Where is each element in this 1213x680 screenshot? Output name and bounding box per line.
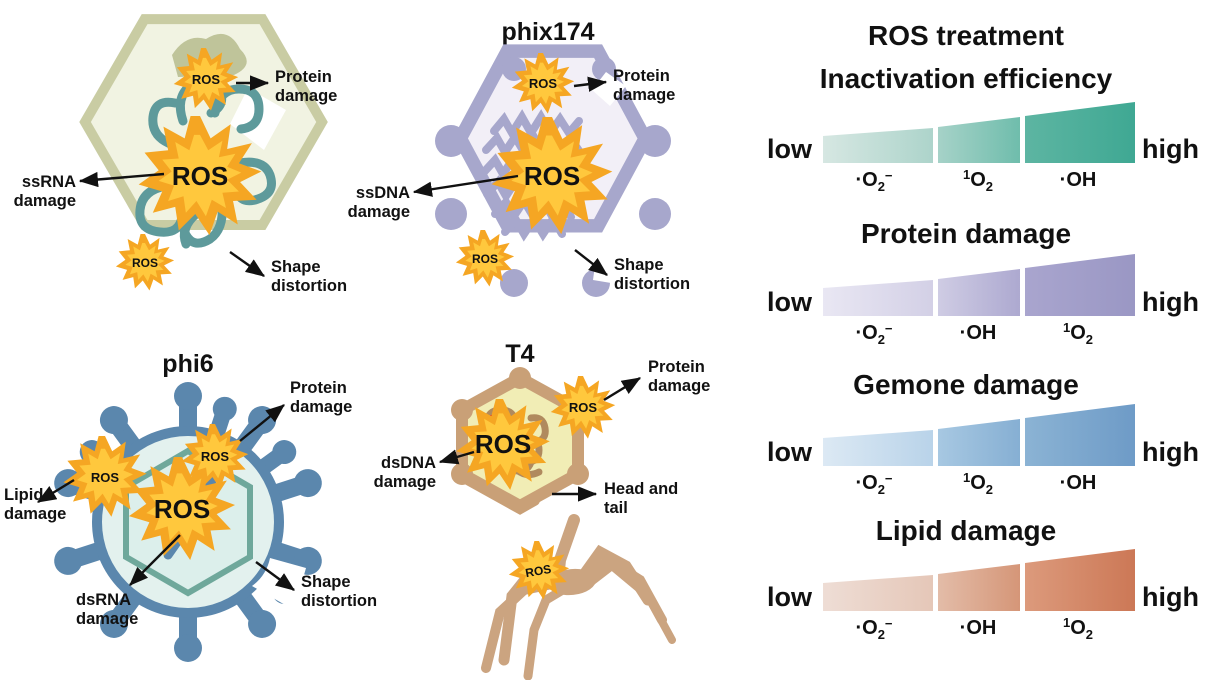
t4-callout-protein-line2: damage bbox=[648, 377, 710, 395]
phix174-ros-center-label: ROS bbox=[524, 161, 580, 191]
phi6-callout-lipid-line2: damage bbox=[4, 505, 66, 523]
phi6-ros-center-label: ROS bbox=[154, 494, 210, 524]
ms2-callout-genome-line1: ssRNA bbox=[22, 173, 76, 191]
phi6-callout-protein-line2: damage bbox=[290, 398, 352, 416]
ms2-callout-genome-line2: damage bbox=[14, 192, 76, 210]
panel-1-title-line1: Protein damage bbox=[861, 218, 1071, 249]
phix174-callout-protein-line2: damage bbox=[613, 86, 675, 104]
panel-0-high-label: high bbox=[1142, 134, 1199, 164]
panel-0-title-line1: ROS treatment bbox=[868, 20, 1064, 51]
ms2-ros-bottom-label: ROS bbox=[132, 256, 158, 270]
panel-3-high-label: high bbox=[1142, 582, 1199, 612]
phix174-callout-shape-line2: distortion bbox=[614, 275, 690, 293]
phi6-callout-genome-line2: damage bbox=[76, 610, 138, 628]
phix174-callout-genome-line2: damage bbox=[348, 203, 410, 221]
t4-title: T4 bbox=[505, 340, 534, 368]
panel-2-high-label: high bbox=[1142, 437, 1199, 467]
ms2-callout-shape-line1: Shape bbox=[271, 258, 321, 276]
panel-1-species-2: ·OH bbox=[960, 322, 997, 344]
panel-1-low-label: low bbox=[767, 287, 813, 317]
phi6-callout-genome-line1: dsRNA bbox=[76, 591, 131, 609]
phi6-callout-lipid-line1: Lipid bbox=[4, 486, 43, 504]
panel-3-title-line1: Lipid damage bbox=[876, 515, 1056, 546]
t4-ros-capsid-label: ROS bbox=[569, 400, 598, 415]
phix174-callout-shape-line1: Shape bbox=[614, 256, 664, 274]
ms2-ros-center-label: ROS bbox=[172, 161, 228, 191]
phix174-ros-bottom-label: ROS bbox=[472, 252, 498, 266]
ms2-ros-top-label: ROS bbox=[192, 72, 221, 87]
t4-ros-head-label: ROS bbox=[475, 429, 531, 459]
phix174-callout-genome-line1: ssDNA bbox=[356, 184, 410, 202]
t4-callout-protein-line1: Protein bbox=[648, 358, 705, 376]
panel-1-high-label: high bbox=[1142, 287, 1199, 317]
phi6-callout-protein-line1: Protein bbox=[290, 379, 347, 397]
figure-canvas: MS2 ROS ROS ROS Protein damage bbox=[0, 0, 1213, 680]
phi6-ros-upper-label: ROS bbox=[201, 449, 230, 464]
phi6-ros-left-label: ROS bbox=[91, 470, 120, 485]
ms2-callout-protein-line1: Protein bbox=[275, 68, 332, 86]
panel-0-title-line2: Inactivation efficiency bbox=[820, 63, 1113, 94]
t4-callout-genome-line2: damage bbox=[374, 473, 436, 491]
panel-0-species-3: ·OH bbox=[1060, 169, 1097, 191]
phix174-callout-protein-line1: Protein bbox=[613, 67, 670, 85]
phi6-title: phi6 bbox=[162, 350, 213, 378]
panel-3-species-2: ·OH bbox=[960, 617, 997, 639]
phi6-callout-shape-line1: Shape bbox=[301, 573, 351, 591]
phi6-callout-shape-line2: distortion bbox=[301, 592, 377, 610]
phix174-title: phix174 bbox=[501, 18, 594, 46]
panel-2-low-label: low bbox=[767, 437, 813, 467]
phix174-ros-top-label: ROS bbox=[529, 76, 558, 91]
ms2-callout-protein-line2: damage bbox=[275, 87, 337, 105]
panel-0-low-label: low bbox=[767, 134, 813, 164]
panel-2-species-3: ·OH bbox=[1060, 472, 1097, 494]
ms2-callout-shape-line2: distortion bbox=[271, 277, 347, 295]
panel-2-title-line1: Gemone damage bbox=[853, 369, 1079, 400]
t4-callout-genome-line1: dsDNA bbox=[381, 454, 436, 472]
panel-3-low-label: low bbox=[767, 582, 813, 612]
t4-callout-headtail-line1: Head and bbox=[604, 480, 678, 498]
t4-callout-headtail-line2: tail bbox=[604, 499, 628, 517]
